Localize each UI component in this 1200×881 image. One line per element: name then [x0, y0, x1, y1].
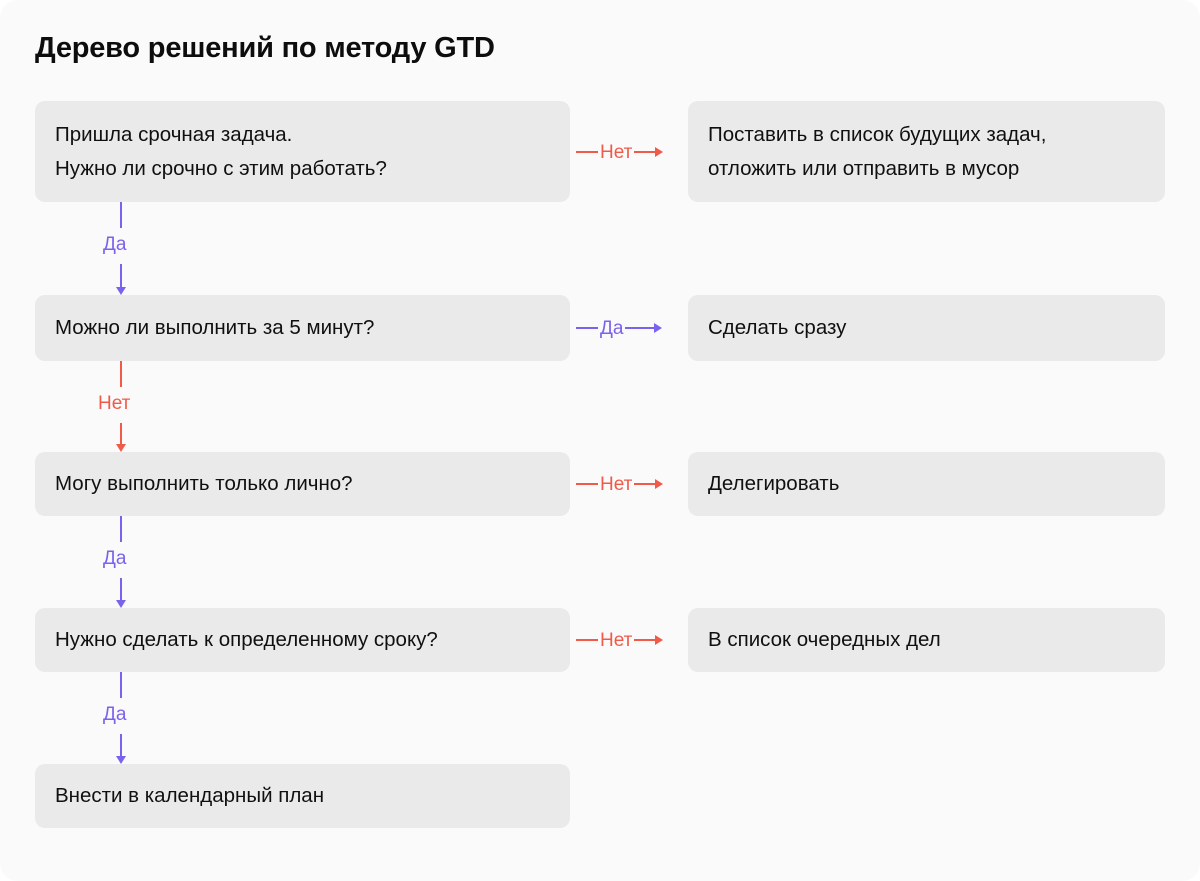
arrow-head-icon: [655, 479, 663, 489]
edge-line-start: [120, 361, 122, 387]
edge-q2-to-q3: Нет: [120, 361, 240, 452]
edge-line-end: [120, 578, 122, 600]
edge-line-start: [120, 672, 122, 698]
arrow-head-icon: [116, 287, 126, 295]
arrow-head-icon: [116, 600, 126, 608]
arrow-head-icon: [116, 444, 126, 452]
edge-line-end: [120, 734, 122, 756]
node-r3-label: Делегировать: [708, 467, 839, 501]
edge-q4-to-r4-label: Нет: [600, 631, 632, 650]
edge-line-start: [120, 516, 122, 542]
edge-q3-to-r3-label: Нет: [600, 475, 632, 494]
node-r2[interactable]: Сделать сразу: [688, 295, 1165, 361]
arrow-head-icon: [116, 756, 126, 764]
edge-q1-to-q2: Да: [120, 202, 240, 295]
edge-line-start: [576, 327, 598, 329]
edge-q2-to-q3-label: Нет: [98, 394, 130, 413]
node-q5[interactable]: Внести в календарный план: [35, 764, 570, 828]
edge-line-end: [634, 151, 656, 153]
node-q5-label: Внести в календарный план: [55, 779, 324, 813]
edge-q1-to-q2-label: Да: [103, 235, 126, 254]
edge-line-start: [576, 151, 598, 153]
arrow-head-icon: [655, 147, 663, 157]
edge-arrow: [634, 635, 663, 645]
edge-q1-to-r1-label: Нет: [600, 143, 632, 162]
edge-q3-to-r3: Нет: [576, 471, 682, 497]
node-q3[interactable]: Могу выполнить только лично?: [35, 452, 570, 516]
edge-q2-to-r2-label: Да: [600, 319, 623, 338]
edge-line-end: [634, 483, 656, 485]
node-r1[interactable]: Поставить в список будущих задач, отложи…: [688, 101, 1165, 202]
diagram-card: Дерево решений по методу GTD Пришла сроч…: [0, 0, 1200, 881]
edge-arrow: [634, 147, 663, 157]
node-r1-label: Поставить в список будущих задач, отложи…: [708, 118, 1046, 186]
page-title: Дерево решений по методу GTD: [35, 32, 495, 65]
edge-arrow: [634, 479, 663, 489]
node-q4[interactable]: Нужно сделать к определенному сроку?: [35, 608, 570, 672]
edge-line-start: [576, 639, 598, 641]
node-q1-label: Пришла срочная задача. Нужно ли срочно с…: [55, 118, 387, 186]
node-q3-label: Могу выполнить только лично?: [55, 467, 353, 501]
edge-q4-to-q5-label: Да: [103, 705, 126, 724]
arrow-head-icon: [654, 323, 662, 333]
arrow-head-icon: [655, 635, 663, 645]
edge-line-start: [120, 202, 122, 228]
node-r3[interactable]: Делегировать: [688, 452, 1165, 516]
edge-line-start: [576, 483, 598, 485]
node-q1[interactable]: Пришла срочная задача. Нужно ли срочно с…: [35, 101, 570, 202]
edge-q4-to-q5: Да: [120, 672, 240, 764]
edge-q2-to-r2: Да: [576, 315, 682, 341]
edge-line-end: [120, 264, 122, 287]
node-q2[interactable]: Можно ли выполнить за 5 минут?: [35, 295, 570, 361]
edge-arrow: [625, 323, 662, 333]
node-r4-label: В список очередных дел: [708, 623, 941, 657]
edge-q4-to-r4: Нет: [576, 627, 682, 653]
edge-line-end: [625, 327, 655, 329]
node-r2-label: Сделать сразу: [708, 311, 846, 345]
node-q4-label: Нужно сделать к определенному сроку?: [55, 623, 438, 657]
edge-line-end: [634, 639, 656, 641]
node-r4[interactable]: В список очередных дел: [688, 608, 1165, 672]
edge-q3-to-q4: Да: [120, 516, 240, 608]
edge-q3-to-q4-label: Да: [103, 549, 126, 568]
edge-q1-to-r1: Нет: [576, 139, 682, 165]
node-q2-label: Можно ли выполнить за 5 минут?: [55, 311, 374, 345]
edge-line-end: [120, 423, 122, 444]
